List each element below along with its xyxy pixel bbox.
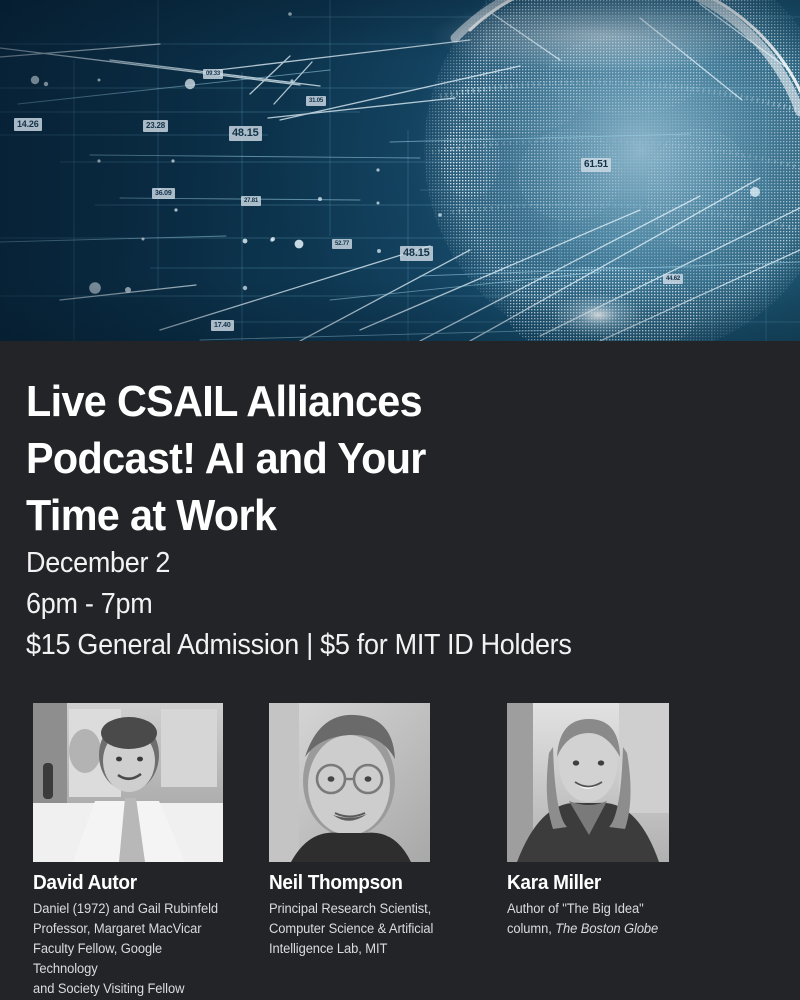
speaker-name: Neil Thompson <box>269 872 470 895</box>
hero-data-label: 23.28 <box>143 120 168 132</box>
event-time: 6pm - 7pm <box>26 584 696 625</box>
speaker-role-line: Author of "The Big Idea" <box>507 901 644 916</box>
hero-data-label: 48.15 <box>229 126 262 141</box>
speaker-name: Kara Miller <box>507 872 708 895</box>
event-price: $15 General Admission | $5 for MIT ID Ho… <box>26 625 696 666</box>
speaker-card: David Autor Daniel (1972) and Gail Rubin… <box>33 703 245 999</box>
speaker-role-line: Computer Science & Artificial <box>269 921 433 936</box>
speaker-card: Neil Thompson Principal Research Scienti… <box>269 703 481 959</box>
speaker-role-line: column, <box>507 921 555 936</box>
event-poster: 14.2623.2848.1561.5148.1536.0917.4052.77… <box>0 0 800 1000</box>
hero-data-label: 09.33 <box>203 69 223 79</box>
speaker-role-line: Principal Research Scientist, <box>269 901 431 916</box>
speaker-role-line: Professor, Margaret MacVicar <box>33 921 201 936</box>
title-line-1: Live CSAIL Alliances <box>26 373 590 430</box>
speaker-role-line: Faculty Fellow, Google Technology <box>33 941 162 976</box>
hero-data-label: 36.09 <box>152 188 175 199</box>
speaker-role-line: Daniel (1972) and Gail Rubinfeld <box>33 901 218 916</box>
hero-data-label: 27.81 <box>241 196 261 206</box>
hero-data-label: 14.26 <box>14 118 42 131</box>
hero-data-label: 61.51 <box>581 158 611 172</box>
speaker-role: Principal Research Scientist, Computer S… <box>269 899 466 959</box>
avatar <box>269 703 430 862</box>
speaker-list: David Autor Daniel (1972) and Gail Rubin… <box>0 703 800 993</box>
speaker-role: Daniel (1972) and Gail Rubinfeld Profess… <box>33 899 230 999</box>
network-data-visualization-graphic <box>0 0 800 341</box>
event-details: December 2 6pm - 7pm $15 General Admissi… <box>26 543 696 666</box>
hero-data-label: 17.40 <box>211 320 234 331</box>
speaker-role-line: and Society Visiting Fellow <box>33 981 184 996</box>
speaker-role: Author of "The Big Idea" column, The Bos… <box>507 899 704 939</box>
hero-network-globe-image: 14.2623.2848.1561.5148.1536.0917.4052.77… <box>0 0 800 341</box>
event-date: December 2 <box>26 543 696 584</box>
hero-data-label: 48.15 <box>400 246 433 261</box>
speaker-role-publication: The Boston Globe <box>555 921 658 936</box>
avatar <box>507 703 669 862</box>
poster-content-area: Live CSAIL Alliances Podcast! AI and You… <box>0 341 800 1000</box>
speaker-card: Kara Miller Author of "The Big Idea" col… <box>507 703 719 939</box>
title-line-3: Time at Work <box>26 487 590 544</box>
hero-data-label: 31.05 <box>306 96 326 106</box>
speaker-role-line: Intelligence Lab, MIT <box>269 941 387 956</box>
page-title: Live CSAIL Alliances Podcast! AI and You… <box>26 373 590 544</box>
hero-data-label: 44.62 <box>663 274 683 284</box>
hero-data-label: 52.77 <box>332 239 352 249</box>
avatar <box>33 703 223 862</box>
speaker-name: David Autor <box>33 872 234 895</box>
title-line-2: Podcast! AI and Your <box>26 430 590 487</box>
